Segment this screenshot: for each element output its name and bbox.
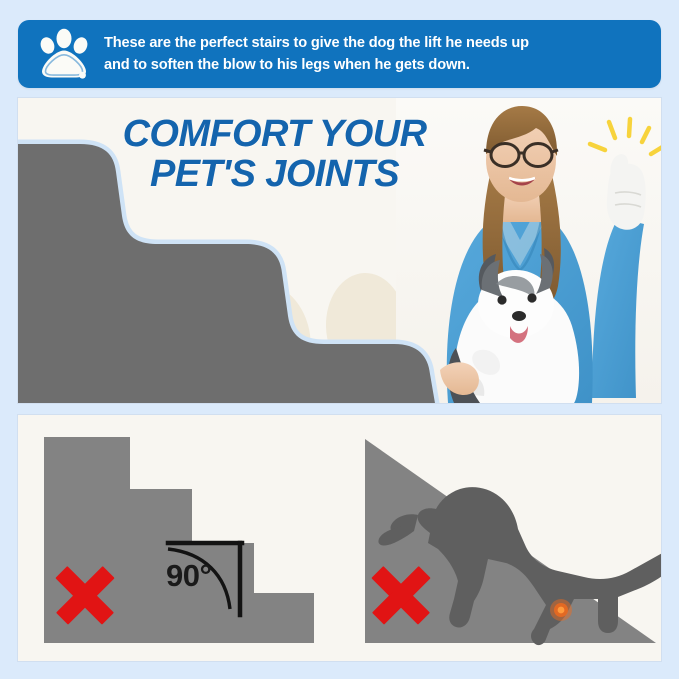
gentle-stairs-silhouette (18, 98, 661, 403)
banner-text: These are the perfect stairs to give the… (104, 32, 529, 76)
banner-text-line-2: and to soften the blow to his legs when … (104, 54, 529, 76)
steep-box-stairs-illustration (18, 415, 661, 661)
paw-print-icon (36, 26, 92, 82)
orange-joint-pain-marker (550, 599, 572, 621)
angle-label: 90° (166, 558, 211, 594)
banner-text-line-1: These are the perfect stairs to give the… (104, 32, 529, 54)
hero-panel: COMFORT YOUR PET'S JOINTS (18, 98, 661, 403)
info-banner: These are the perfect stairs to give the… (18, 20, 661, 88)
comparison-panel (18, 415, 661, 661)
